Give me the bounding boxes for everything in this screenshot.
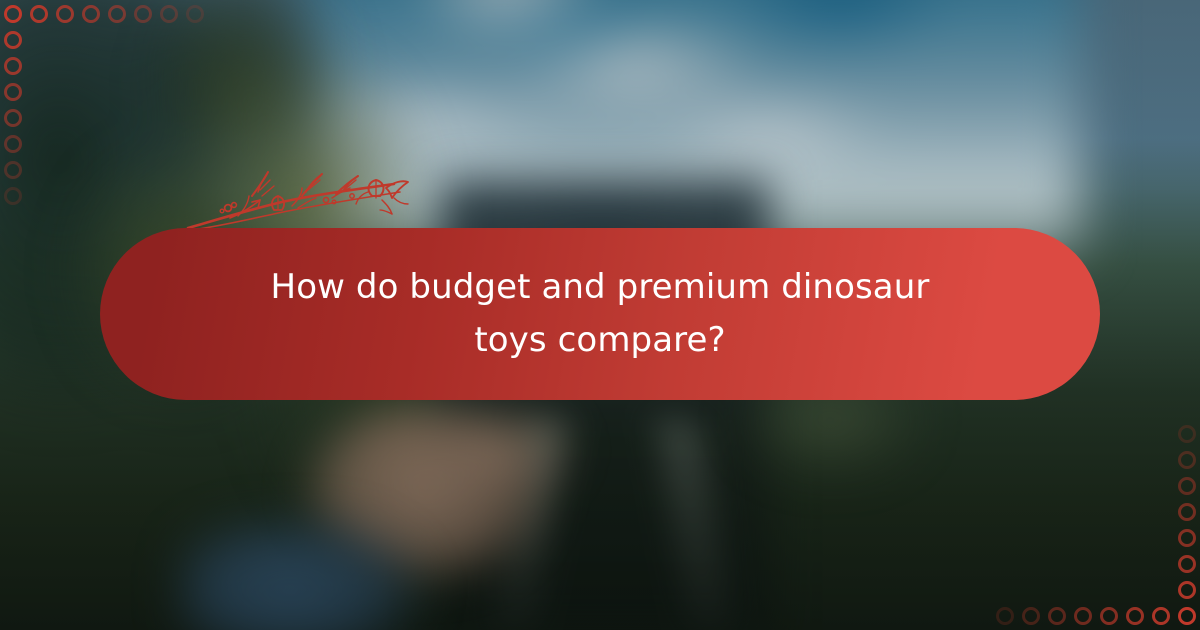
decorative-circle-icon (1178, 451, 1196, 469)
decorative-circle-icon (4, 83, 22, 101)
decorative-circle-icon (4, 109, 22, 127)
decorative-circle-icon (4, 161, 22, 179)
dot-decoration-bottom-right (970, 400, 1200, 630)
decorative-circle-icon (1022, 607, 1040, 625)
banner-canvas: How do budget and premium dinosaur toys … (0, 0, 1200, 630)
decorative-circle-icon (1178, 529, 1196, 547)
floral-branch-ornament (186, 166, 410, 236)
decorative-circle-icon (186, 5, 204, 23)
background-sky-clouds (300, 0, 1080, 250)
headline-pill-banner: How do budget and premium dinosaur toys … (100, 228, 1100, 400)
decorative-circle-icon (4, 135, 22, 153)
decorative-circle-icon (134, 5, 152, 23)
dot-decoration-top-left (0, 0, 230, 230)
decorative-circle-icon (1178, 425, 1196, 443)
background-rail-right (655, 420, 732, 630)
decorative-circle-icon (1048, 607, 1066, 625)
decorative-circle-icon (160, 5, 178, 23)
decorative-circle-icon (1152, 607, 1170, 625)
decorative-circle-icon (4, 5, 22, 23)
background-blue-sleeve (180, 520, 480, 630)
decorative-circle-icon (1178, 607, 1196, 625)
decorative-circle-icon (1178, 503, 1196, 521)
decorative-circle-icon (1178, 477, 1196, 495)
page-title: How do budget and premium dinosaur toys … (230, 261, 970, 366)
decorative-circle-icon (1178, 581, 1196, 599)
background-hand (250, 395, 670, 630)
decorative-circle-icon (56, 5, 74, 23)
decorative-circle-icon (82, 5, 100, 23)
decorative-circle-icon (1100, 607, 1118, 625)
decorative-circle-icon (996, 607, 1014, 625)
decorative-circle-icon (1178, 555, 1196, 573)
decorative-circle-icon (108, 5, 126, 23)
decorative-circle-icon (4, 187, 22, 205)
decorative-circle-icon (30, 5, 48, 23)
decorative-circle-icon (4, 57, 22, 75)
decorative-circle-icon (1126, 607, 1144, 625)
decorative-circle-icon (4, 31, 22, 49)
background-rail-left (491, 420, 568, 630)
decorative-circle-icon (1074, 607, 1092, 625)
